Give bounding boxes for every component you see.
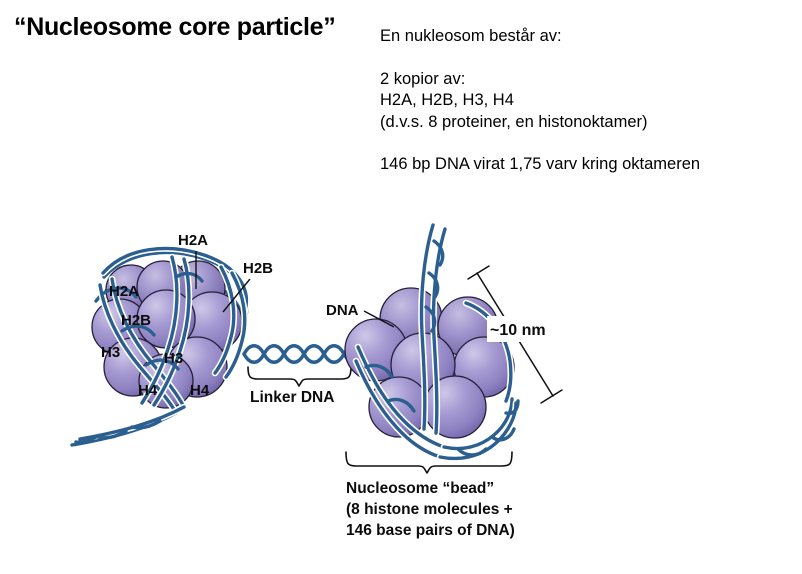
- linker-dna-label: Linker DNA: [250, 389, 334, 406]
- nucleosome-diagram: H2A H2B H3 H3 H4 H4 H2A H2B: [0, 215, 802, 574]
- histone-label-h2a-left: H2A: [109, 283, 139, 300]
- slide-canvas: “Nucleosome core particle” En nukleosom …: [0, 0, 802, 574]
- caption-line: (8 histone molecules +: [346, 501, 513, 518]
- nucleosome-caption-group: Nucleosome “bead” (8 histone molecules +…: [346, 452, 515, 539]
- paragraph-composition: 2 kopior av: H2A, H2B, H3, H4 (d.v.s. 8 …: [380, 69, 780, 134]
- text-line: En nukleosom består av:: [380, 26, 780, 48]
- dimension-cap-top: [468, 266, 489, 279]
- text-line: (d.v.s. 8 proteiner, en histonoktamer): [380, 112, 780, 134]
- dimension-cap-bottom: [541, 390, 562, 403]
- right-nucleosome-cluster: DNA ~10 nm: [326, 225, 567, 458]
- histone-label-h4-left: H4: [138, 382, 158, 399]
- histone-label-h4-right: H4: [190, 382, 210, 399]
- dna-label: DNA: [326, 302, 359, 319]
- paragraph-intro: En nukleosom består av:: [380, 26, 780, 48]
- left-nucleosome-cluster: H2A H2B H3 H3 H4 H4 H2A H2B: [72, 232, 273, 445]
- body-text-block: En nukleosom består av: 2 kopior av: H2A…: [380, 26, 780, 176]
- scale-label: ~10 nm: [490, 322, 546, 339]
- histone-label-h3-left: H3: [101, 344, 120, 361]
- histone-label-h2b-top-right: H2B: [243, 260, 273, 277]
- caption-line: 146 base pairs of DNA): [346, 522, 515, 539]
- text-line: H2A, H2B, H3, H4: [380, 90, 780, 112]
- histone-label-h2b-inner: H2B: [121, 312, 151, 329]
- caption-line: Nucleosome “bead”: [346, 480, 494, 497]
- text-line: 2 kopior av:: [380, 69, 780, 91]
- left-dna-tail: [72, 407, 184, 445]
- text-line: 146 bp DNA virat 1,75 varv kring oktamer…: [380, 154, 780, 176]
- histone-label-h3-center: H3: [164, 350, 183, 367]
- paragraph-dna-wrap: 146 bp DNA virat 1,75 varv kring oktamer…: [380, 154, 780, 176]
- nucleosome-diagram-svg: H2A H2B H3 H3 H4 H4 H2A H2B: [0, 215, 802, 574]
- histone-label-h2a-top: H2A: [178, 232, 208, 249]
- linker-brace: [248, 367, 351, 386]
- page-title: “Nucleosome core particle”: [14, 12, 336, 42]
